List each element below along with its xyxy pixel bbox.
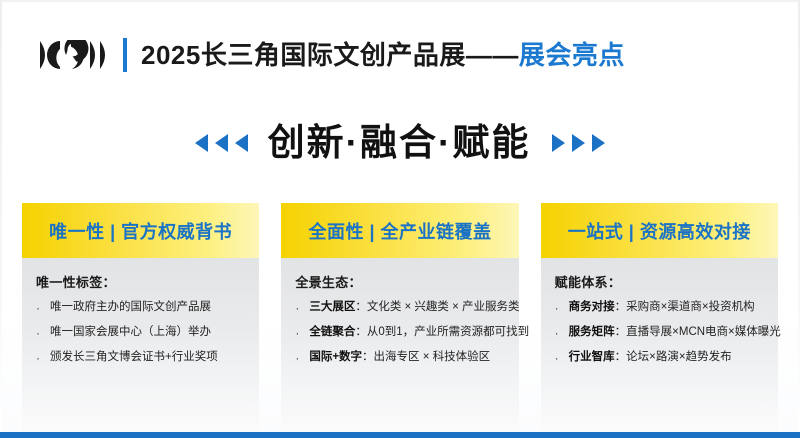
- bullet-text: 唯一国家会展中心（上海）举办: [50, 326, 211, 338]
- bullet-body: 全链聚合：从0到1，产业所需资源都可找到: [309, 325, 529, 341]
- page-title-main: 2025长三角国际文创产品展——: [141, 40, 519, 70]
- card-header: 唯一性 | 官方权威背书: [22, 203, 259, 258]
- bullet-dot-icon: ·: [555, 325, 569, 341]
- bullet-body: 唯一国家会展中心（上海）举办: [50, 325, 249, 341]
- bullet-text: ：出海专区 × 科技体验区: [362, 351, 490, 363]
- triangle-right-icon: [592, 134, 605, 152]
- bullet-body: 三大展区：文化类 × 兴趣类 × 产业服务类: [309, 300, 519, 316]
- card-header-label: 全面性 | 全产业链覆盖: [308, 218, 491, 244]
- bullet-body: 服务矩阵：直播导展×MCN电商×媒体曝光: [569, 325, 781, 341]
- page-title: 2025长三角国际文创产品展——展会亮点: [141, 42, 625, 68]
- bullet-label: 全链聚合: [309, 326, 355, 338]
- bullet-list: · 商务对接：采购商×渠道商×投资机构 · 服务矩阵：直播导展×MCN电商×媒体…: [555, 300, 768, 367]
- bullet-label: 服务矩阵: [569, 326, 615, 338]
- logo-divider: [123, 38, 127, 72]
- triangle-right-icon: [572, 134, 585, 152]
- slide-header: 2025长三角国际文创产品展——展会亮点: [38, 33, 625, 77]
- slide-top-edge: [0, 0, 800, 2]
- highlight-cards: 唯一性 | 官方权威背书 唯一性标签： · 唯一政府主办的国际文创产品展 · 唯…: [22, 203, 778, 433]
- list-item: · 唯一政府主办的国际文创产品展: [36, 300, 249, 316]
- triangle-left-icon: [215, 134, 228, 152]
- highlight-card: 一站式 | 资源高效对接 赋能体系： · 商务对接：采购商×渠道商×投资机构 ·…: [541, 203, 778, 433]
- card-header: 全面性 | 全产业链覆盖: [281, 203, 518, 258]
- bullet-dot-icon: ·: [555, 350, 569, 366]
- bullet-label: 行业智库: [569, 351, 615, 363]
- left-arrow-group: [195, 134, 248, 152]
- bullet-body: 颁发长三角文博会证书+行业奖项: [50, 350, 249, 366]
- bullet-body: 国际+数字：出海专区 × 科技体验区: [309, 350, 508, 366]
- list-item: · 唯一国家会展中心（上海）举办: [36, 325, 249, 341]
- bullet-dot-icon: ·: [295, 300, 309, 316]
- card-body: 全景生态： · 三大展区：文化类 × 兴趣类 × 产业服务类 · 全链聚合：从0…: [281, 258, 518, 433]
- bullet-text: ：论坛×路演×趋势发布: [615, 351, 732, 363]
- kch-logo-icon: [38, 40, 114, 70]
- list-item: · 服务矩阵：直播导展×MCN电商×媒体曝光: [555, 325, 768, 341]
- card-body-title: 全景生态：: [295, 272, 508, 291]
- bullet-dot-icon: ·: [36, 350, 50, 366]
- slide-left-edge: [0, 0, 2, 438]
- bullet-dot-icon: ·: [36, 325, 50, 341]
- bullet-text: ：直播导展×MCN电商×媒体曝光: [615, 326, 781, 338]
- card-header-label: 一站式 | 资源高效对接: [568, 218, 751, 244]
- card-body-title: 赋能体系：: [555, 272, 768, 291]
- triangle-left-icon: [235, 134, 248, 152]
- bullet-text: ：从0到1，产业所需资源都可找到: [355, 326, 529, 338]
- card-header: 一站式 | 资源高效对接: [541, 203, 778, 258]
- bullet-label: 商务对接: [569, 301, 615, 313]
- card-body: 赋能体系： · 商务对接：采购商×渠道商×投资机构 · 服务矩阵：直播导展×MC…: [541, 258, 778, 433]
- bottom-accent-bar: [0, 432, 800, 438]
- triangle-right-icon: [552, 134, 565, 152]
- highlight-card: 全面性 | 全产业链覆盖 全景生态： · 三大展区：文化类 × 兴趣类 × 产业…: [281, 203, 518, 433]
- bullet-list: · 唯一政府主办的国际文创产品展 · 唯一国家会展中心（上海）举办 · 颁发长三…: [36, 300, 249, 367]
- bullet-dot-icon: ·: [295, 350, 309, 366]
- bullet-list: · 三大展区：文化类 × 兴趣类 × 产业服务类 · 全链聚合：从0到1，产业所…: [295, 300, 508, 367]
- bullet-text: ：文化类 × 兴趣类 × 产业服务类: [355, 301, 519, 313]
- bullet-text: 唯一政府主办的国际文创产品展: [50, 301, 211, 313]
- card-body: 唯一性标签： · 唯一政府主办的国际文创产品展 · 唯一国家会展中心（上海）举办…: [22, 258, 259, 433]
- list-item: · 行业智库：论坛×路演×趋势发布: [555, 350, 768, 366]
- headline-row: 创新·融合·赋能: [0, 124, 800, 161]
- card-header-label: 唯一性 | 官方权威背书: [49, 218, 232, 244]
- card-body-title: 唯一性标签：: [36, 272, 249, 291]
- list-item: · 商务对接：采购商×渠道商×投资机构: [555, 300, 768, 316]
- bullet-dot-icon: ·: [36, 300, 50, 316]
- bullet-text: 颁发长三角文博会证书+行业奖项: [50, 351, 218, 363]
- headline-text: 创新·融合·赋能: [268, 124, 531, 161]
- bullet-dot-icon: ·: [555, 300, 569, 316]
- list-item: · 国际+数字：出海专区 × 科技体验区: [295, 350, 508, 366]
- list-item: · 颁发长三角文博会证书+行业奖项: [36, 350, 249, 366]
- bullet-text: ：采购商×渠道商×投资机构: [615, 301, 755, 313]
- bullet-dot-icon: ·: [295, 325, 309, 341]
- highlight-card: 唯一性 | 官方权威背书 唯一性标签： · 唯一政府主办的国际文创产品展 · 唯…: [22, 203, 259, 433]
- bullet-body: 商务对接：采购商×渠道商×投资机构: [569, 300, 768, 316]
- right-arrow-group: [552, 134, 605, 152]
- list-item: · 三大展区：文化类 × 兴趣类 × 产业服务类: [295, 300, 508, 316]
- triangle-left-icon: [195, 134, 208, 152]
- list-item: · 全链聚合：从0到1，产业所需资源都可找到: [295, 325, 508, 341]
- bullet-body: 唯一政府主办的国际文创产品展: [50, 300, 249, 316]
- bullet-label: 国际+数字: [309, 351, 362, 363]
- bullet-body: 行业智库：论坛×路演×趋势发布: [569, 350, 768, 366]
- bullet-label: 三大展区: [309, 301, 355, 313]
- page-title-accent: 展会亮点: [519, 40, 625, 70]
- slide-canvas: 2025长三角国际文创产品展——展会亮点 创新·融合·赋能 唯一性 | 官方权威…: [0, 0, 800, 438]
